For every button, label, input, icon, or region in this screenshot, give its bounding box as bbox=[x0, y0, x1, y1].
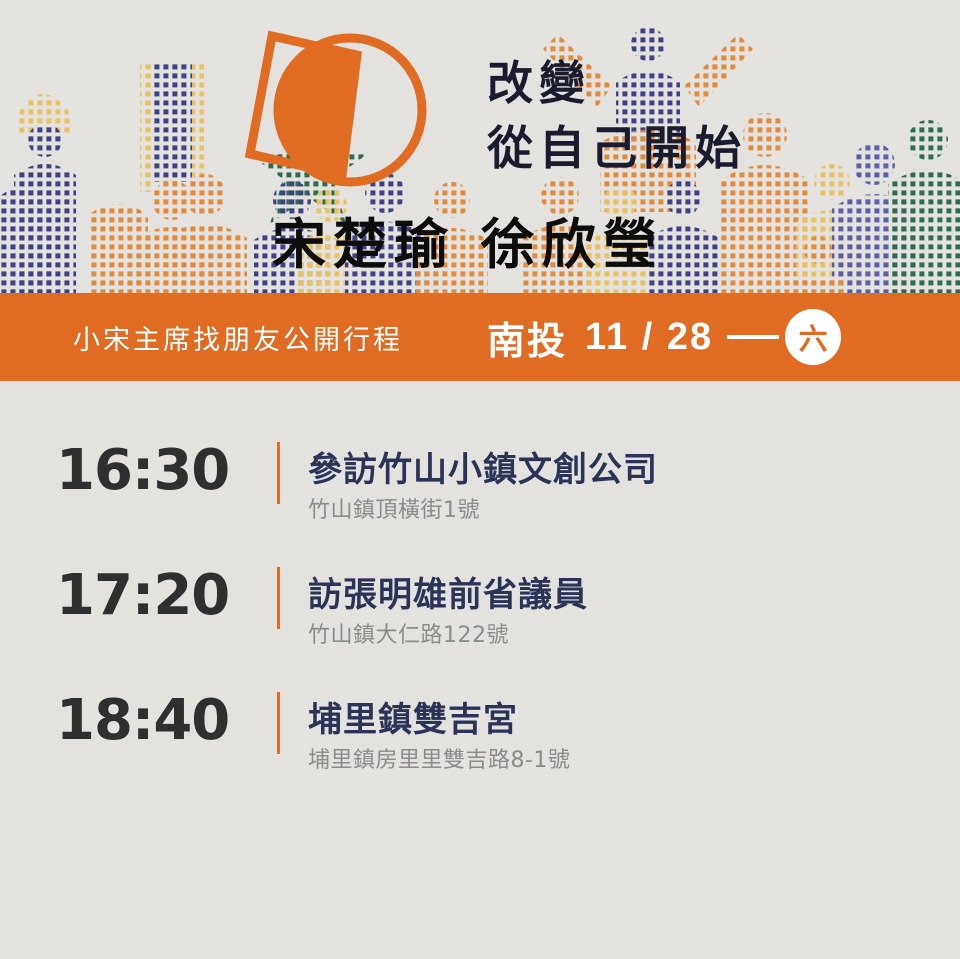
slogan-line-2: 從自己開始 bbox=[487, 112, 747, 178]
candidate-names: 宋楚瑜 徐欣瑩 bbox=[272, 200, 664, 279]
event-banner: 小宋主席找朋友公開行程 南投 11 / 28 六 bbox=[0, 293, 960, 381]
schedule-time: 16:30 bbox=[56, 438, 266, 503]
campaign-logo-icon bbox=[232, 22, 472, 207]
hero-section: 改變 從自己開始 宋楚瑜 徐欣瑩 bbox=[0, 0, 960, 293]
schedule-title: 埔里鎮雙吉宮 bbox=[308, 692, 518, 741]
footer: f 宋楚瑜找朋友 LINE @2016soong www.soong.tw 2/… bbox=[0, 915, 960, 959]
schedule-time: 18:40 bbox=[56, 688, 266, 753]
schedule-title: 參訪竹山小鎮文創公司 bbox=[308, 442, 658, 491]
weekday-badge: 六 bbox=[785, 309, 841, 365]
schedule-list: 16:30 參訪竹山小鎮文創公司 竹山鎮頂橫街1號 17:20 訪張明雄前省議員… bbox=[0, 420, 960, 795]
schedule-item: 17:20 訪張明雄前省議員 竹山鎮大仁路122號 bbox=[0, 545, 960, 670]
banner-date-group: 南投 11 / 28 六 bbox=[487, 309, 841, 365]
slogan-line-1: 改變 bbox=[487, 47, 591, 113]
schedule-address: 竹山鎮大仁路122號 bbox=[308, 617, 509, 649]
campaign-schedule-poster: 改變 從自己開始 宋楚瑜 徐欣瑩 小宋主席找朋友公開行程 南投 11 / 28 … bbox=[0, 0, 960, 959]
schedule-address: 埔里鎮房里里雙吉路8-1號 bbox=[308, 742, 570, 774]
schedule-item: 16:30 參訪竹山小鎮文創公司 竹山鎮頂橫街1號 bbox=[0, 420, 960, 545]
schedule-title: 訪張明雄前省議員 bbox=[308, 567, 588, 616]
schedule-divider bbox=[277, 442, 280, 504]
schedule-divider bbox=[277, 692, 280, 754]
banner-title: 小宋主席找朋友公開行程 bbox=[73, 318, 403, 357]
banner-date: 11 / 28 bbox=[585, 316, 713, 359]
schedule-time: 17:20 bbox=[56, 563, 266, 628]
schedule-item: 18:40 埔里鎮雙吉宮 埔里鎮房里里雙吉路8-1號 bbox=[0, 670, 960, 795]
banner-dash-separator bbox=[727, 335, 779, 339]
schedule-address: 竹山鎮頂橫街1號 bbox=[308, 492, 480, 524]
banner-location: 南投 bbox=[487, 310, 567, 365]
schedule-divider bbox=[277, 567, 280, 629]
